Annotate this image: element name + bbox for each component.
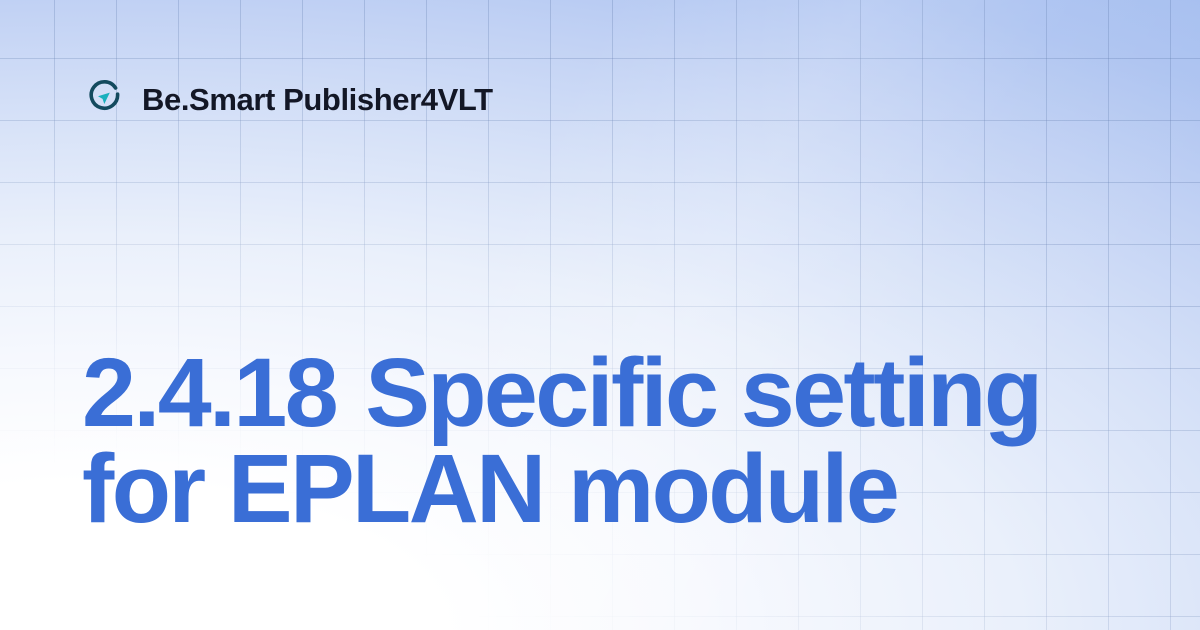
brand-name: Be.Smart Publisher4VLT — [142, 84, 493, 115]
page-title-number: 2.4.18 — [82, 338, 336, 447]
circular-cursor-logo-icon — [86, 80, 124, 118]
og-banner: Be.Smart Publisher4VLT 2.4.18Specific se… — [0, 0, 1200, 630]
brand-lockup: Be.Smart Publisher4VLT — [86, 80, 493, 118]
page-title: 2.4.18Specific setting for EPLAN module — [82, 345, 1122, 537]
